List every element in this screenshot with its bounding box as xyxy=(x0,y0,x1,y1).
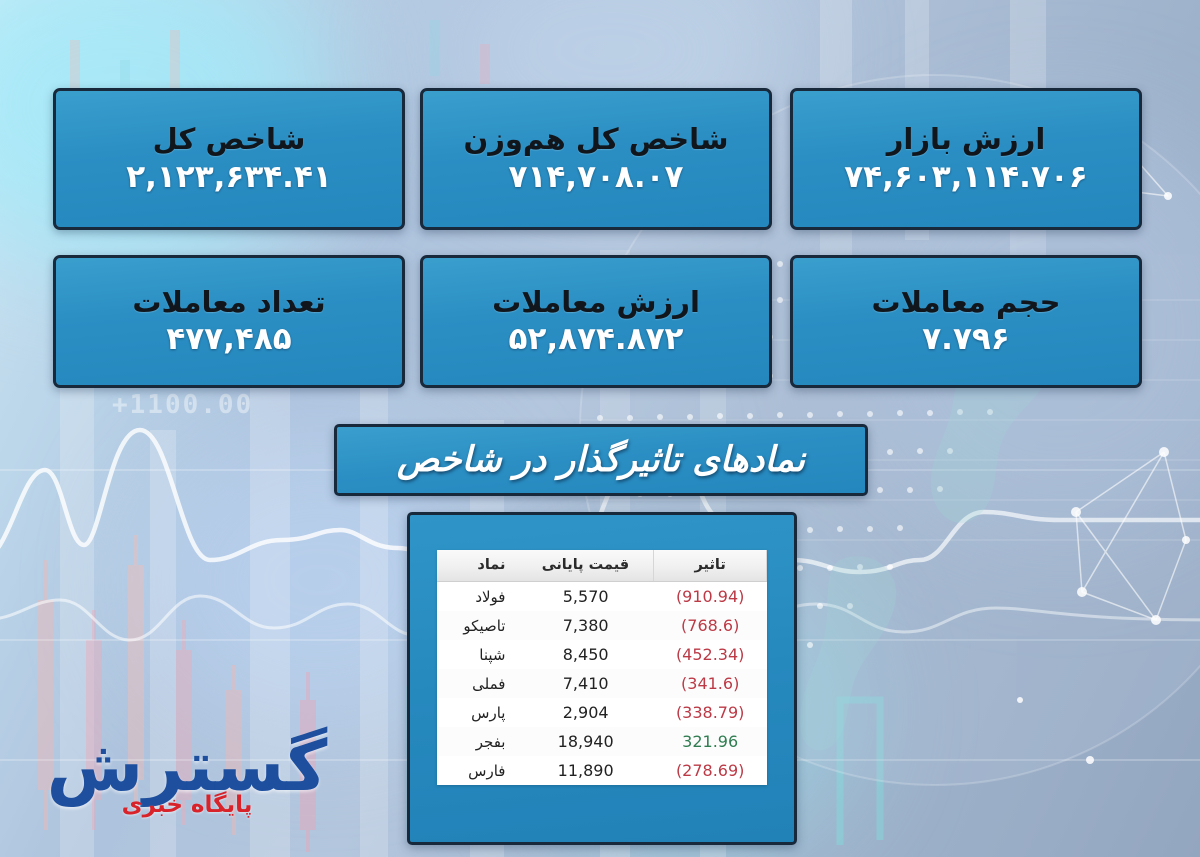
stat-card-trade-count: تعداد معاملات ۴۷۷,۴۸۵ xyxy=(53,255,405,388)
table-row: (341.6)7,410فملی xyxy=(437,669,767,698)
cell-closing-price: 11,890 xyxy=(517,756,653,785)
table-row: (278.69)11,890فارس xyxy=(437,756,767,785)
influential-symbols-panel: تاثیر قیمت پایانی نماد (910.94)5,570فولا… xyxy=(407,512,797,845)
stat-card-total-index: شاخص کل ۲,۱۲۳,۶۳۴.۴۱ xyxy=(53,88,405,230)
section-banner-title: نمادهای تاثیرگذار در شاخص xyxy=(397,440,805,480)
stat-card-label: ارزش معاملات xyxy=(492,287,700,319)
stat-card-equal-weighted-index: شاخص کل هم‌وزن ۷۱۴,۷۰۸.۰۷ xyxy=(420,88,772,230)
cell-symbol: فولاد xyxy=(437,582,517,612)
stat-card-trade-value: ارزش معاملات ۵۲,۸۷۴.۸۷۲ xyxy=(420,255,772,388)
background-watermark-number: +1100.00 xyxy=(112,390,253,420)
cell-closing-price: 5,570 xyxy=(517,582,653,612)
table-header: تاثیر قیمت پایانی نماد xyxy=(437,550,767,582)
infographic-canvas: +1100.00 شاخص کل ۲,۱۲۳,۶۳۴.۴۱ شاخص کل هم… xyxy=(0,0,1200,857)
influential-symbols-table: تاثیر قیمت پایانی نماد (910.94)5,570فولا… xyxy=(437,550,767,785)
stat-card-label: ارزش بازار xyxy=(887,124,1046,156)
logo-name: گسترش xyxy=(46,733,328,800)
cell-impact: (910.94) xyxy=(654,582,767,612)
site-logo: گسترش پایگاه خبری xyxy=(46,733,328,845)
table-body: (910.94)5,570فولاد(768.6)7,380تاصیکو(452… xyxy=(437,582,767,786)
table-row: 321.9618,940بفجر xyxy=(437,727,767,756)
cell-closing-price: 18,940 xyxy=(517,727,653,756)
table-header-row: تاثیر قیمت پایانی نماد xyxy=(437,550,767,582)
cell-impact: (338.79) xyxy=(654,698,767,727)
cell-impact: 321.96 xyxy=(654,727,767,756)
cell-impact: (768.6) xyxy=(654,611,767,640)
cell-symbol: بفجر xyxy=(437,727,517,756)
cell-closing-price: 7,410 xyxy=(517,669,653,698)
table-row: (452.34)8,450شپنا xyxy=(437,640,767,669)
column-header-price: قیمت پایانی xyxy=(517,550,653,582)
cell-impact: (278.69) xyxy=(654,756,767,785)
stat-card-value: ۲,۱۲۳,۶۳۴.۴۱ xyxy=(126,160,332,194)
column-header-impact: تاثیر xyxy=(654,550,767,582)
stat-card-label: شاخص کل هم‌وزن xyxy=(463,124,728,156)
stat-card-value: ۴۷۷,۴۸۵ xyxy=(166,322,291,356)
stat-card-market-value: ارزش بازار ۷۴,۶۰۳,۱۱۴.۷۰۶ xyxy=(790,88,1142,230)
stat-card-value: ۷۱۴,۷۰۸.۰۷ xyxy=(509,160,684,194)
stat-card-label: شاخص کل xyxy=(153,124,306,156)
cell-impact: (341.6) xyxy=(654,669,767,698)
cell-symbol: پارس xyxy=(437,698,517,727)
cell-impact: (452.34) xyxy=(654,640,767,669)
table-row: (338.79)2,904پارس xyxy=(437,698,767,727)
table-row: (910.94)5,570فولاد xyxy=(437,582,767,612)
cell-closing-price: 2,904 xyxy=(517,698,653,727)
cell-symbol: تاصیکو xyxy=(437,611,517,640)
column-header-symbol: نماد xyxy=(437,550,517,582)
stat-card-value: ۷.۷۹۶ xyxy=(922,322,1009,356)
cell-symbol: فارس xyxy=(437,756,517,785)
cell-closing-price: 8,450 xyxy=(517,640,653,669)
cell-symbol: شپنا xyxy=(437,640,517,669)
stat-card-value: ۵۲,۸۷۴.۸۷۲ xyxy=(509,322,684,356)
stat-card-label: تعداد معاملات xyxy=(132,287,325,319)
cell-closing-price: 7,380 xyxy=(517,611,653,640)
stat-card-trade-volume: حجم معاملات ۷.۷۹۶ xyxy=(790,255,1142,388)
cell-symbol: فملی xyxy=(437,669,517,698)
stat-card-value: ۷۴,۶۰۳,۱۱۴.۷۰۶ xyxy=(844,160,1087,194)
section-banner: نمادهای تاثیرگذار در شاخص xyxy=(334,424,868,496)
table-row: (768.6)7,380تاصیکو xyxy=(437,611,767,640)
stat-card-label: حجم معاملات xyxy=(872,287,1061,319)
